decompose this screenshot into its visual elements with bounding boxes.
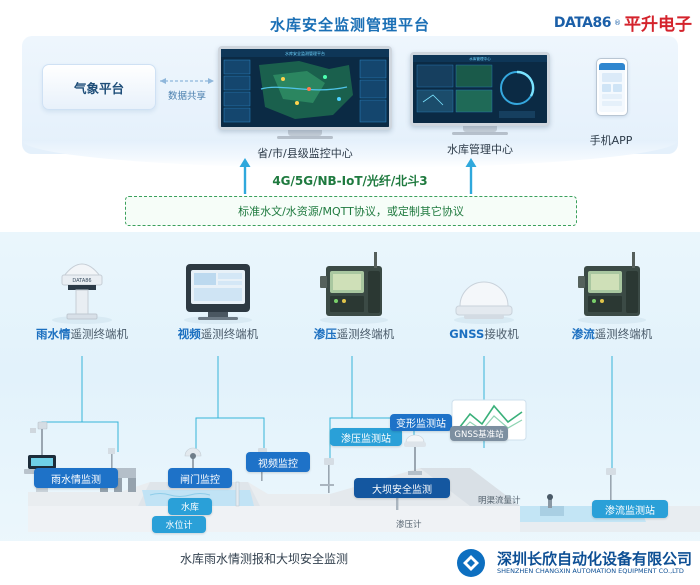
map-dashboard-icon: 水库安全监测管理平台 bbox=[221, 49, 389, 127]
seepage-pressure-terminal-icon bbox=[290, 246, 418, 326]
company-mark-icon bbox=[455, 547, 491, 579]
management-center-label: 水库管理中心 bbox=[410, 141, 550, 157]
weather-platform-box: 气象平台 bbox=[42, 64, 156, 110]
device-seepage-flow-terminal[interactable]: 渗流遥测终端机 bbox=[546, 246, 678, 342]
company-name-cn: 深圳长欣自动化设备有限公司 bbox=[497, 551, 692, 568]
svg-text:水库安全监测管理平台: 水库安全监测管理平台 bbox=[285, 50, 325, 56]
label-reservoir: 水库 bbox=[168, 498, 212, 515]
provincial-monitoring-center[interactable]: 水库安全监测管理平台 省/市/县级监控中心 bbox=[218, 46, 392, 161]
diagram-canvas: 水库安全监测管理平台 DATA86 ® 平升电子 气象平台 数据共享 水库安全监… bbox=[0, 0, 700, 585]
device-label: 渗压遥测终端机 bbox=[290, 326, 418, 342]
device-seepage-pressure-terminal[interactable]: 渗压遥测终端机 bbox=[290, 246, 418, 342]
mobile-app-screen-icon bbox=[599, 63, 625, 112]
label-water-level-gauge: 水位计 bbox=[152, 516, 206, 533]
seepage-pressure-pole-icon bbox=[320, 458, 334, 493]
protocol-box: 标准水文/水资源/MQTT协议，或定制其它协议 bbox=[125, 196, 577, 226]
video-dashboard-icon: 水库管理中心 bbox=[413, 55, 547, 123]
data-share-label: 数据共享 bbox=[156, 88, 218, 102]
brand-left-text: DATA86 bbox=[554, 15, 611, 31]
footer-caption: 水库雨水情测报和大坝安全监测 bbox=[180, 550, 348, 567]
tag-seepage-pressure-station[interactable]: 渗压监测站 bbox=[330, 428, 402, 446]
company-logo: 深圳长欣自动化设备有限公司 SHENZHEN CHANGXIN AUTOMATI… bbox=[455, 547, 692, 579]
brand-registered-mark: ® bbox=[614, 19, 621, 27]
tag-video-monitor[interactable]: 视频监控 bbox=[246, 452, 310, 472]
label-open-channel-flow-meter: 明渠流量计 bbox=[478, 494, 521, 506]
field-scene bbox=[0, 356, 700, 556]
tag-deformation-station[interactable]: 变形监测站 bbox=[390, 414, 452, 431]
device-rain-gauge[interactable]: DATA86 雨水情遥测终端机 bbox=[18, 246, 146, 342]
tag-gate-monitor[interactable]: 闸门监控 bbox=[168, 468, 232, 488]
water-level-gauge-icon bbox=[236, 482, 239, 506]
reservoir-management-center[interactable]: 水库管理中心 水库管理中心 bbox=[410, 52, 550, 157]
device-gnss-receiver[interactable]: GNSS接收机 bbox=[420, 246, 548, 342]
device-video-terminal[interactable]: 视频遥测终端机 bbox=[154, 246, 282, 342]
tag-gnss-base-station[interactable]: GNSS基准站 bbox=[450, 426, 508, 441]
mobile-app-device[interactable] bbox=[596, 58, 628, 116]
brand-logo: DATA86 ® 平升电子 bbox=[554, 10, 692, 35]
rain-gauge-icon: DATA86 bbox=[18, 246, 146, 326]
mobile-app-label: 手机APP bbox=[576, 132, 646, 148]
device-label: 视频遥测终端机 bbox=[154, 326, 282, 342]
seepage-flow-terminal-icon bbox=[546, 246, 678, 326]
device-label: 渗流遥测终端机 bbox=[546, 326, 678, 342]
tag-rain-monitor[interactable]: 雨水情监测 bbox=[34, 468, 118, 488]
company-name-en: SHENZHEN CHANGXIN AUTOMATION EQUIPMENT C… bbox=[497, 567, 692, 575]
tag-seepage-flow-station[interactable]: 渗流监测站 bbox=[592, 500, 668, 518]
svg-text:DATA86: DATA86 bbox=[72, 278, 91, 284]
flow-meter-icon bbox=[540, 494, 564, 516]
tag-dam-safety-monitor[interactable]: 大坝安全监测 bbox=[354, 478, 450, 498]
data-share-arrow-icon bbox=[158, 76, 216, 86]
video-terminal-icon bbox=[154, 246, 282, 326]
gnss-receiver-icon bbox=[420, 246, 548, 326]
network-bearer-label: 4G/5G/NB-IoT/光纤/北斗3 bbox=[0, 172, 700, 189]
brand-right-text: 平升电子 bbox=[624, 10, 692, 35]
device-label: 雨水情遥测终端机 bbox=[18, 326, 146, 342]
svg-text:水库管理中心: 水库管理中心 bbox=[469, 56, 491, 61]
label-seepage-pressure-gauge: 渗压计 bbox=[396, 518, 422, 530]
device-label: GNSS接收机 bbox=[420, 326, 548, 342]
